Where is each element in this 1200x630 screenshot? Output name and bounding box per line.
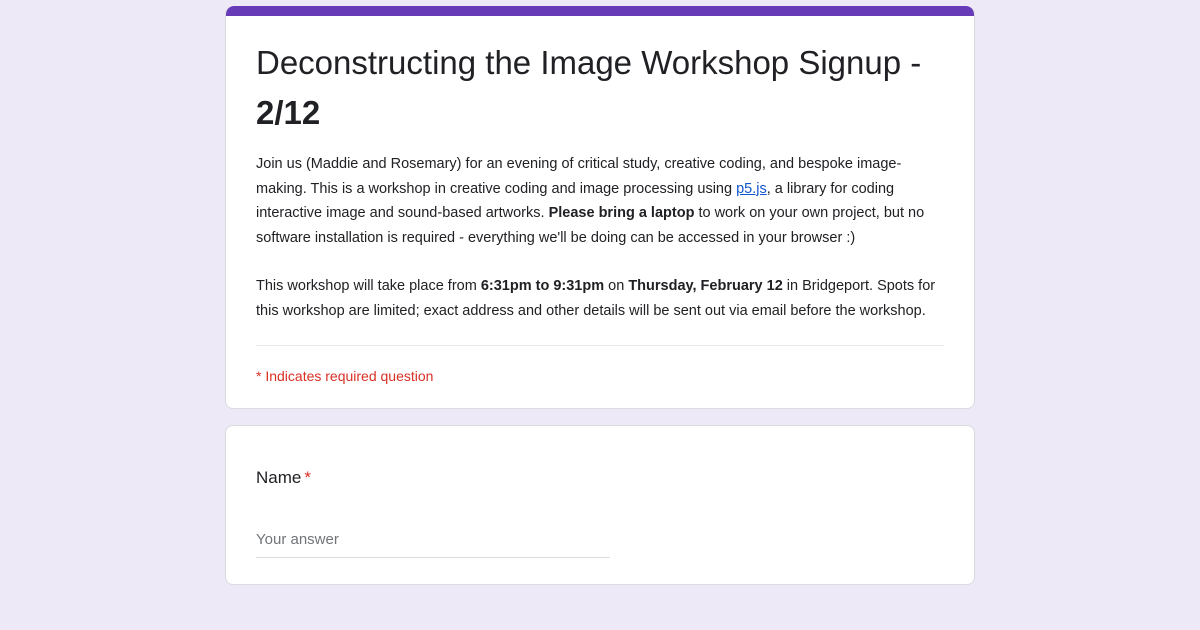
question-label-text: Name bbox=[256, 468, 301, 487]
form-description: Join us (Maddie and Rosemary) for an eve… bbox=[256, 152, 944, 323]
required-question-note: * Indicates required question bbox=[226, 346, 974, 408]
form-description-paragraph-1: Join us (Maddie and Rosemary) for an eve… bbox=[256, 152, 944, 250]
form-title: Deconstructing the Image Workshop Signup… bbox=[256, 38, 944, 138]
form-description-paragraph-2: This workshop will take place from 6:31p… bbox=[256, 274, 944, 323]
desc-p2-part-b: on bbox=[604, 278, 628, 294]
form-title-bold: 2/12 bbox=[256, 94, 320, 131]
form-title-plain: Deconstructing the Image Workshop Signup… bbox=[256, 44, 921, 81]
form-container: Deconstructing the Image Workshop Signup… bbox=[225, 6, 975, 585]
required-asterisk: * bbox=[304, 468, 311, 487]
description-spacer bbox=[256, 250, 944, 274]
name-input-wrapper[interactable]: Your answer bbox=[256, 530, 610, 558]
form-header-card: Deconstructing the Image Workshop Signup… bbox=[225, 6, 975, 409]
google-form-page: Deconstructing the Image Workshop Signup… bbox=[0, 0, 1200, 630]
desc-p1-bold: Please bring a laptop bbox=[549, 205, 695, 221]
question-card-name[interactable]: Name* Your answer bbox=[225, 425, 975, 585]
card-spacer bbox=[225, 409, 975, 425]
desc-p2-bold-time: 6:31pm to 9:31pm bbox=[481, 278, 604, 294]
desc-p2-part-a: This workshop will take place from bbox=[256, 278, 481, 294]
name-input-placeholder[interactable]: Your answer bbox=[256, 530, 610, 550]
form-header-body: Deconstructing the Image Workshop Signup… bbox=[226, 16, 974, 346]
form-theme-bar bbox=[226, 6, 974, 16]
desc-p2-bold-date: Thursday, February 12 bbox=[628, 278, 782, 294]
p5js-link[interactable]: p5.js bbox=[736, 181, 767, 197]
question-label-name: Name* bbox=[256, 466, 944, 490]
